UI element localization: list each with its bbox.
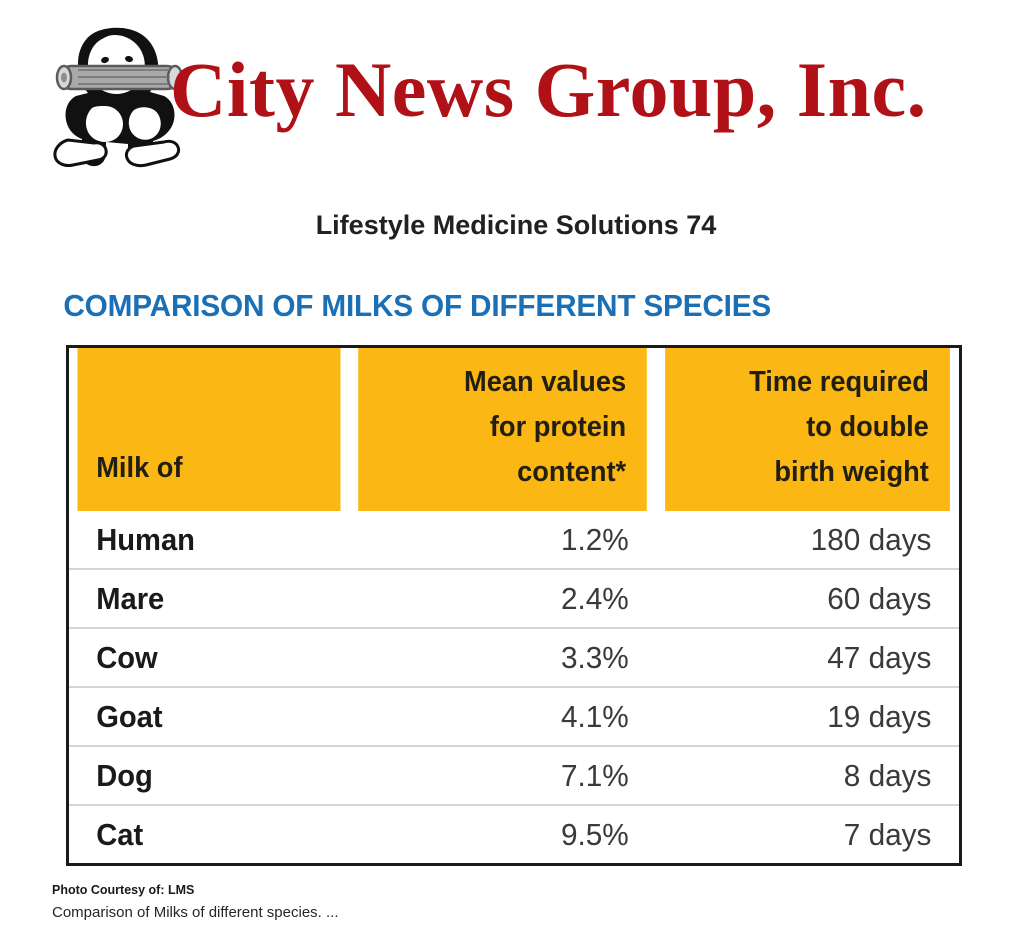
photo-credit: Photo Courtesy of: LMS [52, 883, 1032, 897]
row-protein-value: 3.3% [355, 628, 650, 687]
table-row: Cat 9.5% 7 days [69, 805, 959, 863]
row-protein-value: 2.4% [355, 569, 650, 628]
figure-caption: Comparison of Milks of different species… [52, 904, 1032, 921]
row-label: Cow [77, 628, 341, 687]
row-time-value: 8 days [662, 746, 953, 805]
column-header-protein-line1: Mean values [464, 366, 626, 398]
table-header: Milk of Mean values for protein content*… [69, 348, 959, 511]
footer: Photo Courtesy of: LMS Comparison of Mil… [52, 883, 1032, 921]
comparison-table-container: Milk of Mean values for protein content*… [66, 345, 962, 866]
column-header-time-line2: to double [807, 411, 930, 443]
row-label: Dog [77, 746, 341, 805]
table-row: Dog 7.1% 8 days [69, 746, 959, 805]
row-protein-value: 7.1% [355, 746, 650, 805]
masthead: City News Group, Inc. [0, 0, 1032, 178]
row-label: Goat [77, 687, 341, 746]
column-header-milk-of-line1: Milk of [96, 452, 182, 484]
row-protein-value: 1.2% [355, 511, 650, 569]
column-header-time-line1: Time required [749, 366, 929, 398]
column-header-time: Time required to double birth weight [665, 348, 949, 511]
row-time-value: 7 days [662, 805, 953, 863]
table-row: Goat 4.1% 19 days [69, 687, 959, 746]
table-row: Cow 3.3% 47 days [69, 628, 959, 687]
row-label: Mare [77, 569, 341, 628]
row-time-value: 60 days [662, 569, 953, 628]
row-label: Human [77, 511, 341, 569]
column-header-protein: Mean values for protein content* [359, 348, 648, 511]
column-header-time-line3: birth weight [775, 456, 929, 488]
comparison-table: Milk of Mean values for protein content*… [69, 348, 959, 863]
table-header-row: Milk of Mean values for protein content*… [69, 348, 959, 511]
row-time-value: 19 days [662, 687, 953, 746]
table-row: Mare 2.4% 60 days [69, 569, 959, 628]
table-body: Human 1.2% 180 days Mare 2.4% 60 days Co… [69, 511, 959, 863]
brand-wordmark: City News Group, Inc. [170, 48, 927, 132]
row-label: Cat [77, 805, 341, 863]
row-time-value: 47 days [662, 628, 953, 687]
row-protein-value: 4.1% [355, 687, 650, 746]
page-subtitle: Lifestyle Medicine Solutions 74 [0, 178, 1032, 241]
column-header-protein-line2: for protein [490, 411, 626, 443]
row-protein-value: 9.5% [355, 805, 650, 863]
column-header-milk-of: Milk of [77, 348, 341, 511]
table-row: Human 1.2% 180 days [69, 511, 959, 569]
column-header-protein-line3: content* [517, 456, 626, 488]
row-time-value: 180 days [662, 511, 953, 569]
page-title: COMPARISON OF MILKS OF DIFFERENT SPECIES [0, 241, 991, 323]
